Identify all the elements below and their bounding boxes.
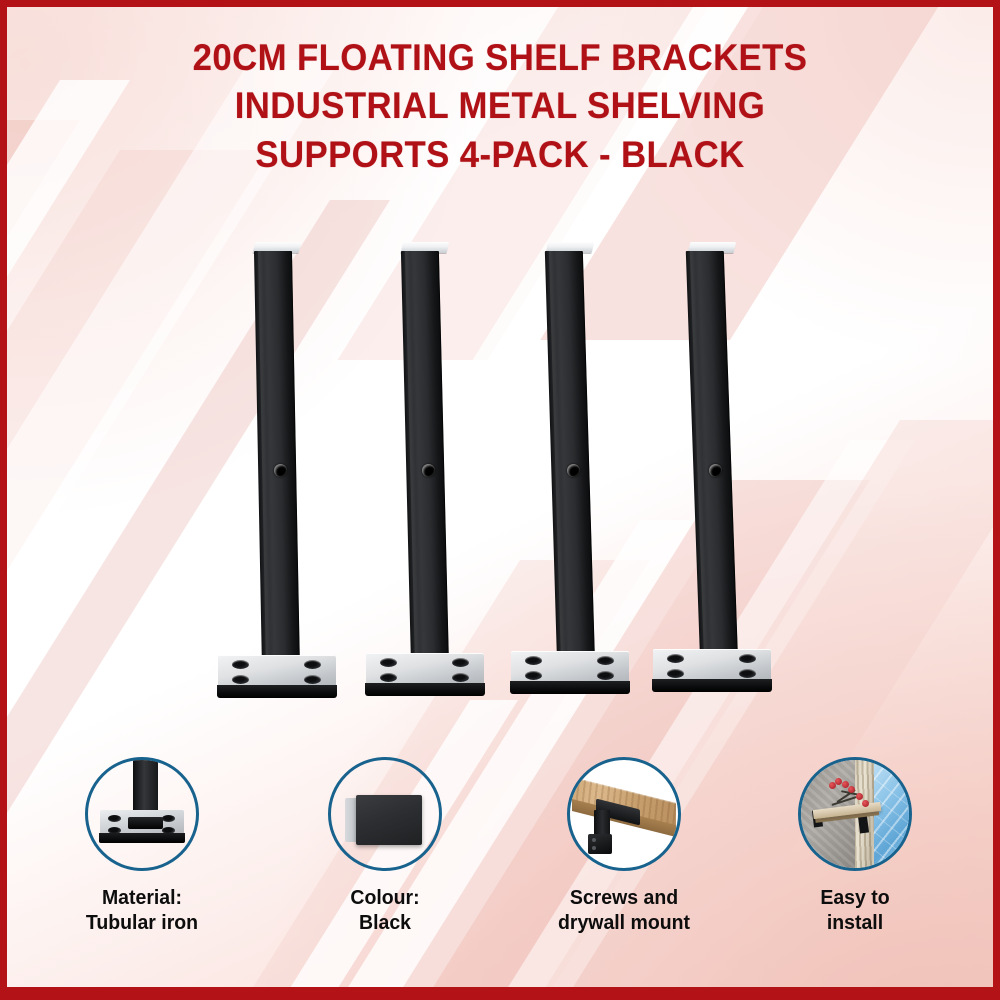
bracket-screw-hole-3: [567, 464, 580, 477]
bracket-base-plate-2: [366, 653, 484, 697]
base-plate-hole-bl-1: [232, 675, 249, 684]
scene-window: [874, 760, 909, 868]
scene-flower-6: [862, 800, 869, 807]
feature-colour-line-2: Black: [281, 910, 490, 935]
feature-installation: Easy to install: [745, 757, 965, 936]
icon-shelf-assembly: [570, 760, 678, 868]
colour-swatch-icon: [328, 757, 442, 871]
feature-installation-line-2: install: [751, 910, 960, 935]
bracket-screw-hole-4: [709, 464, 722, 477]
scene-bracket-right: [858, 816, 869, 834]
icon-plate-hole-tl: [108, 815, 121, 822]
feature-mounting: Screws and drywall mount: [514, 757, 734, 936]
base-plate-hole-tl-4: [667, 654, 684, 663]
feature-colour-line-1: Colour:: [281, 885, 490, 910]
feature-mounting-line-1: Screws and: [520, 885, 729, 910]
bracket-screw-hole-1: [274, 464, 287, 477]
base-plate-edge-2: [365, 683, 485, 696]
base-plate-hole-tr-4: [739, 654, 756, 663]
base-plate-hole-br-3: [597, 671, 614, 680]
feature-installation-line-1: Easy to: [751, 885, 960, 910]
scene-flower-5: [856, 793, 863, 800]
base-plate-hole-tl-2: [380, 658, 397, 667]
base-plate-hole-tr-2: [452, 658, 469, 667]
bracket-base-plate-icon: [85, 757, 199, 871]
feature-badge-row: Material: Tubular iron Colour: Black: [0, 757, 1000, 987]
feature-mounting-label: Screws and drywall mount: [520, 885, 729, 936]
base-plate-edge-1: [217, 685, 337, 698]
bracket-tube-2: [401, 251, 449, 669]
feature-colour-label: Colour: Black: [281, 885, 490, 936]
icon-plate-hole-tr: [162, 815, 175, 822]
feature-material-line-2: Tubular iron: [38, 910, 247, 935]
base-plate-hole-tr-1: [304, 660, 321, 669]
scene-flower-4: [848, 786, 855, 793]
feature-mounting-line-2: drywall mount: [520, 910, 729, 935]
base-plate-hole-br-4: [739, 669, 756, 678]
scene-flower-2: [835, 778, 842, 785]
feature-colour: Colour: Black: [275, 757, 495, 936]
bracket-tube-3: [545, 251, 595, 667]
feature-material-label: Material: Tubular iron: [38, 885, 247, 936]
base-plate-hole-bl-4: [667, 669, 684, 678]
bracket-screw-hole-2: [422, 464, 435, 477]
bracket-base-plate-1: [218, 655, 336, 699]
base-plate-edge-3: [510, 681, 630, 694]
icon-bracket-wall-plate: [588, 834, 612, 854]
bracket-tube-4: [686, 251, 738, 665]
base-plate-hole-br-2: [452, 673, 469, 682]
installed-shelf-photo-icon: [798, 757, 912, 871]
bracket-base-plate-3: [511, 651, 629, 695]
bracket-base-plate-4: [653, 649, 771, 693]
icon-room-scene: [801, 760, 909, 868]
icon-weld: [128, 817, 163, 829]
feature-material-line-1: Material:: [38, 885, 247, 910]
bracket-tube-1: [254, 251, 300, 671]
swatch-front-face: [356, 795, 422, 845]
feature-installation-label: Easy to install: [751, 885, 960, 936]
base-plate-edge-4: [652, 679, 772, 692]
base-plate-hole-tl-3: [525, 656, 542, 665]
base-plate-hole-tr-3: [597, 656, 614, 665]
product-listing-image: 20CM FLOATING SHELF BRACKETS INDUSTRIAL …: [0, 0, 1000, 1000]
base-plate-hole-br-1: [304, 675, 321, 684]
feature-material: Material: Tubular iron: [32, 757, 252, 936]
base-plate-hole-tl-1: [232, 660, 249, 669]
base-plate-hole-bl-2: [380, 673, 397, 682]
base-plate-hole-bl-3: [525, 671, 542, 680]
icon-tube: [133, 757, 158, 816]
icon-plate-edge: [99, 833, 185, 843]
shelf-with-bracket-icon: [567, 757, 681, 871]
